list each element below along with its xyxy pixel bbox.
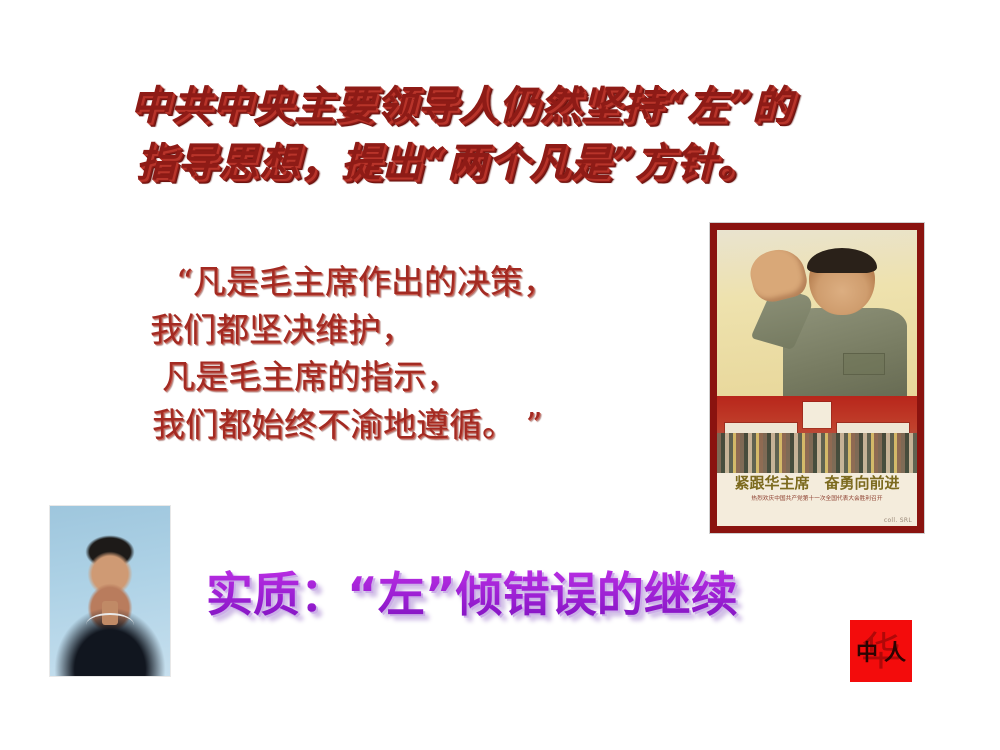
slide-title: 中共中央主要领导人仍然坚持“左”的 指导思想，提出“两个凡是”方针。 [130, 78, 910, 192]
quotation-block: “凡是毛主席作出的决策， 我们都坚决维护， 凡是毛主席的指示， 我们都始终不渝地… [150, 258, 710, 448]
portrait-collar [86, 613, 134, 625]
poster-sub-caption: 热烈欢庆中国共产党第十一次全国代表大会胜利召开 [722, 494, 912, 503]
seal-glyph-left: 中 [856, 635, 878, 667]
propaganda-poster: 紧跟华主席 奋勇向前进 热烈欢庆中国共产党第十一次全国代表大会胜利召开 coll… [710, 223, 924, 533]
seal-glyph-row: 中 人 [850, 620, 912, 682]
poster-credit-text: coll. SRL [884, 517, 912, 524]
quote-line-2: 我们都坚决维护， [150, 306, 710, 354]
red-seal-logo: 华 中 人 [850, 620, 912, 682]
poster-figure-pocket [843, 353, 885, 375]
quote-line-3: 凡是毛主席的指示， [150, 353, 710, 401]
seal-glyph-right: 人 [884, 635, 906, 667]
poster-placard [803, 402, 831, 428]
poster-portrait-scene [717, 230, 917, 396]
title-line-2: 指导思想，提出“两个凡是”方针。 [130, 135, 910, 192]
poster-caption-area: 紧跟华主席 奋勇向前进 热烈欢庆中国共产党第十一次全国代表大会胜利召开 coll… [717, 473, 917, 526]
poster-banner-left [725, 423, 797, 432]
title-line-1: 中共中央主要领导人仍然坚持“左”的 [130, 78, 910, 135]
poster-crowd-figures [717, 433, 917, 473]
hua-guofeng-portrait [50, 506, 170, 676]
poster-crowd-scene [717, 396, 917, 473]
quote-line-4: 我们都始终不渝地遵循。 ” [150, 401, 710, 449]
poster-main-caption: 紧跟华主席 奋勇向前进 [717, 476, 917, 492]
conclusion-headline: 实质：“左”倾错误的继续 [206, 556, 738, 625]
poster-banner-right [837, 423, 909, 432]
slide-canvas: 中共中央主要领导人仍然坚持“左”的 指导思想，提出“两个凡是”方针。 “凡是毛主… [0, 0, 1000, 750]
poster-inner: 紧跟华主席 奋勇向前进 热烈欢庆中国共产党第十一次全国代表大会胜利召开 coll… [717, 230, 917, 526]
quote-line-1: “凡是毛主席作出的决策， [150, 258, 710, 306]
poster-figure-hair [807, 248, 877, 273]
